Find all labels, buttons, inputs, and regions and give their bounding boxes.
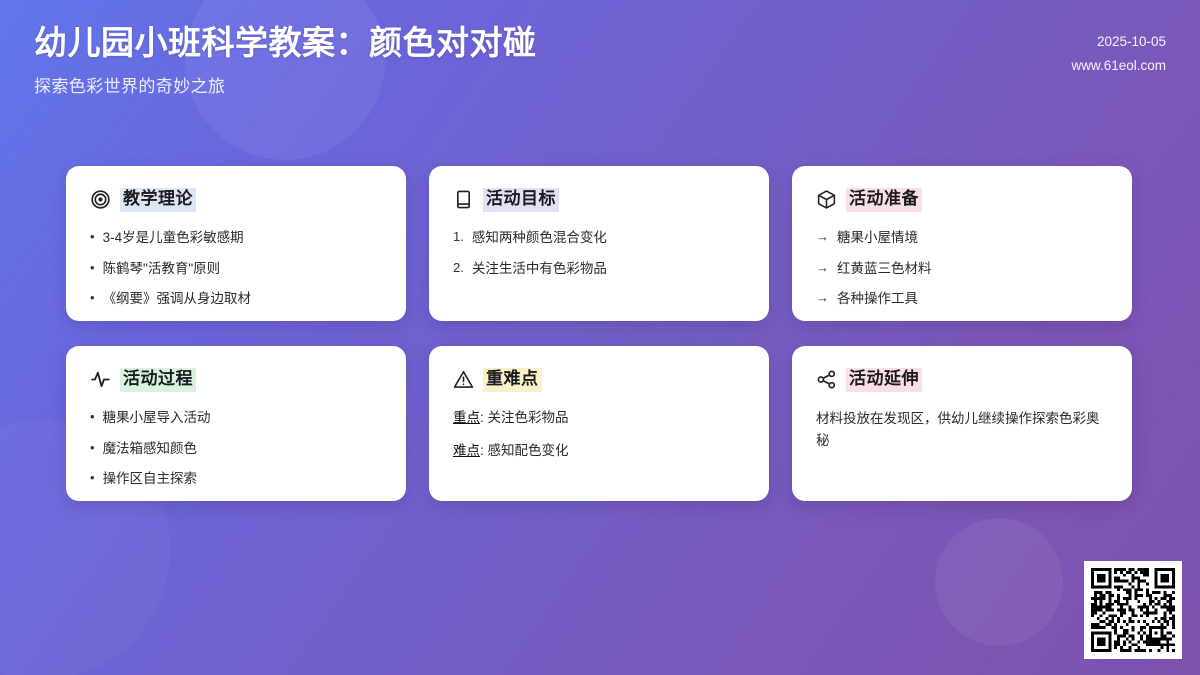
card-header: 教学理论 — [90, 188, 382, 212]
list-item: •糖果小屋导入活动 — [90, 408, 382, 428]
card-list: •糖果小屋导入活动•魔法箱感知颜色•操作区自主探索 — [90, 408, 382, 489]
list-item: •《纲要》强调从身边取材 — [90, 289, 382, 309]
activity-pulse-icon — [90, 369, 111, 390]
list-item: •操作区自主探索 — [90, 469, 382, 489]
list-item-text: 3-4岁是儿童色彩敏感期 — [103, 228, 244, 248]
list-item: 1.感知两种颜色混合变化 — [453, 228, 745, 248]
key-label: 重点 — [453, 410, 480, 425]
card-body: 材料投放在发现区，供幼儿继续操作探索色彩奥秘 — [816, 408, 1108, 452]
list-marker: • — [90, 469, 95, 488]
card-title: 活动准备 — [846, 188, 922, 212]
key-separator: : — [480, 443, 484, 458]
box-icon — [816, 189, 837, 210]
card-list: →糖果小屋情境→红黄蓝三色材料→各种操作工具 — [816, 228, 1108, 309]
page-subtitle: 探索色彩世界的奇妙之旅 — [34, 72, 1166, 97]
key-value: 感知配色变化 — [488, 443, 569, 458]
list-item: •3-4岁是儿童色彩敏感期 — [90, 228, 382, 248]
card-paragraph: 材料投放在发现区，供幼儿继续操作探索色彩奥秘 — [816, 408, 1108, 452]
list-item: →红黄蓝三色材料 — [816, 259, 1108, 279]
list-item-text: 各种操作工具 — [837, 289, 918, 309]
list-item: 2.关注生活中有色彩物品 — [453, 259, 745, 279]
list-marker: • — [90, 228, 95, 247]
card-header: 活动目标 — [453, 188, 745, 212]
list-marker: • — [90, 408, 95, 427]
card-body: 1.感知两种颜色混合变化2.关注生活中有色彩物品 — [453, 228, 745, 278]
list-item: →糖果小屋情境 — [816, 228, 1108, 248]
card-title: 教学理论 — [120, 188, 196, 212]
list-marker: → — [816, 228, 829, 247]
card-list: 1.感知两种颜色混合变化2.关注生活中有色彩物品 — [453, 228, 745, 278]
card-header: 活动延伸 — [816, 368, 1108, 392]
page-title: 幼儿园小班科学教案：颜色对对碰 — [34, 22, 1166, 65]
header-site-url: www.61eol.com — [1071, 54, 1166, 78]
key-value-row: 重点: 关注色彩物品 — [453, 408, 745, 428]
key-label: 难点 — [453, 443, 480, 458]
card-body: 重点: 关注色彩物品难点: 感知配色变化 — [453, 408, 745, 460]
card-activity-goals: 活动目标1.感知两种颜色混合变化2.关注生活中有色彩物品 — [429, 166, 769, 321]
list-item: •魔法箱感知颜色 — [90, 439, 382, 459]
key-value-row: 难点: 感知配色变化 — [453, 441, 745, 461]
card-header: 重难点 — [453, 368, 745, 392]
list-item-text: 陈鹤琴"活教育"原则 — [103, 259, 221, 279]
list-item-text: 红黄蓝三色材料 — [837, 259, 932, 279]
list-item-text: 糖果小屋导入活动 — [103, 408, 211, 428]
page-header: 幼儿园小班科学教案：颜色对对碰 探索色彩世界的奇妙之旅 2025-10-05 w… — [0, 0, 1200, 97]
list-item-text: 魔法箱感知颜色 — [103, 439, 198, 459]
list-item-text: 糖果小屋情境 — [837, 228, 918, 248]
key-value: 关注色彩物品 — [488, 410, 569, 425]
list-marker: • — [90, 259, 95, 278]
header-date: 2025-10-05 — [1071, 30, 1166, 54]
card-body: •糖果小屋导入活动•魔法箱感知颜色•操作区自主探索 — [90, 408, 382, 489]
card-activity-extension: 活动延伸材料投放在发现区，供幼儿继续操作探索色彩奥秘 — [792, 346, 1132, 501]
list-marker: 1. — [453, 228, 464, 247]
decorative-circle-bottom-right — [935, 518, 1063, 646]
book-icon — [453, 189, 474, 210]
list-item-text: 操作区自主探索 — [103, 469, 198, 489]
card-teaching-theory: 教学理论•3-4岁是儿童色彩敏感期•陈鹤琴"活教育"原则•《纲要》强调从身边取材 — [66, 166, 406, 321]
list-marker: → — [816, 259, 829, 278]
warning-triangle-icon — [453, 369, 474, 390]
list-item-text: 《纲要》强调从身边取材 — [103, 289, 252, 309]
qr-code-container[interactable] — [1084, 561, 1182, 659]
list-item-text: 感知两种颜色混合变化 — [472, 228, 607, 248]
card-list: •3-4岁是儿童色彩敏感期•陈鹤琴"活教育"原则•《纲要》强调从身边取材 — [90, 228, 382, 309]
list-marker: → — [816, 289, 829, 308]
key-separator: : — [480, 410, 484, 425]
card-body: →糖果小屋情境→红黄蓝三色材料→各种操作工具 — [816, 228, 1108, 309]
list-item-text: 关注生活中有色彩物品 — [472, 259, 607, 279]
card-activity-preparation: 活动准备→糖果小屋情境→红黄蓝三色材料→各种操作工具 — [792, 166, 1132, 321]
list-item: •陈鹤琴"活教育"原则 — [90, 259, 382, 279]
qr-code — [1091, 568, 1175, 652]
share-icon — [816, 369, 837, 390]
card-title: 活动过程 — [120, 368, 196, 392]
list-marker: • — [90, 439, 95, 458]
target-icon — [90, 189, 111, 210]
list-item: →各种操作工具 — [816, 289, 1108, 309]
list-marker: • — [90, 289, 95, 308]
card-body: •3-4岁是儿童色彩敏感期•陈鹤琴"活教育"原则•《纲要》强调从身边取材 — [90, 228, 382, 309]
card-activity-process: 活动过程•糖果小屋导入活动•魔法箱感知颜色•操作区自主探索 — [66, 346, 406, 501]
card-header: 活动过程 — [90, 368, 382, 392]
card-title: 活动延伸 — [846, 368, 922, 392]
card-title: 活动目标 — [483, 188, 559, 212]
card-header: 活动准备 — [816, 188, 1108, 212]
card-grid: 教学理论•3-4岁是儿童色彩敏感期•陈鹤琴"活教育"原则•《纲要》强调从身边取材… — [66, 166, 1138, 501]
list-marker: 2. — [453, 259, 464, 278]
header-meta: 2025-10-05 www.61eol.com — [1071, 30, 1166, 77]
card-key-difficulties: 重难点重点: 关注色彩物品难点: 感知配色变化 — [429, 346, 769, 501]
card-title: 重难点 — [483, 368, 542, 392]
